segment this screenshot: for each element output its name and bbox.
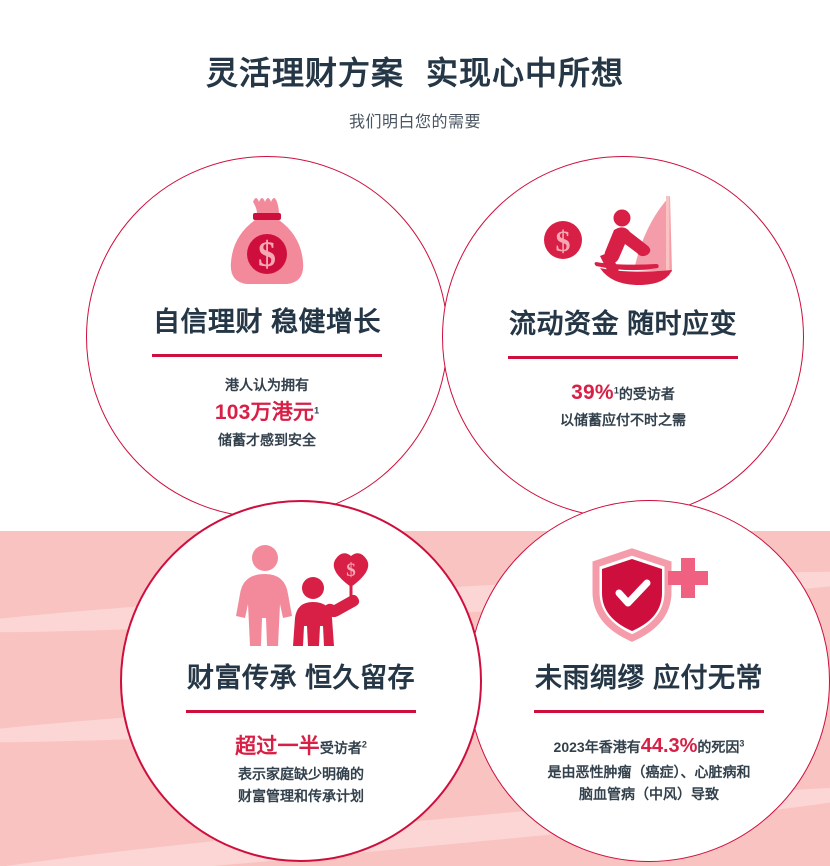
footnote-marker: 3 bbox=[739, 739, 744, 749]
card-plan-ahead: 未雨绸缪 应付无常 2023年香港有44.3%的死因3 是由恶性肿瘤（癌症）、心… bbox=[468, 500, 830, 806]
card-line-suffix: 的死因 bbox=[697, 739, 739, 755]
page-title: 灵活理财方案实现心中所想 bbox=[0, 0, 830, 94]
infographic-stage: 灵活理财方案实现心中所想 我们明白您的需要 $ 自信理财 稳健增长 港人认为拥有… bbox=[0, 0, 830, 866]
card-highlight-value: 44.3% bbox=[641, 735, 698, 757]
card-wealth-legacy: $ 财富传承 恒久留存 超过一半受访者2 表示家庭缺少明确的 财富管理和传承计划 bbox=[120, 500, 482, 807]
page-subtitle: 我们明白您的需要 bbox=[0, 108, 830, 132]
family-heart-balloon-icon: $ bbox=[120, 530, 482, 648]
card-body-line-2: 是由恶性肿瘤（癌症）、心脏病和 bbox=[468, 762, 830, 784]
card-body-line-1: 港人认为拥有 bbox=[86, 375, 448, 397]
card-body-line-1: 2023年香港有44.3%的死因3 bbox=[468, 731, 830, 762]
card-body-line-3: 脑血管病（中风）导致 bbox=[468, 784, 830, 806]
card-body: 2023年香港有44.3%的死因3 是由恶性肿瘤（癌症）、心脏病和 脑血管病（中… bbox=[468, 731, 830, 805]
page-title-part2: 实现心中所想 bbox=[426, 55, 624, 91]
svg-text:$: $ bbox=[258, 234, 276, 274]
card-body: 39%1的受访者 以储蓄应付不时之需 bbox=[442, 377, 804, 431]
card-highlight-tail: 受访者 bbox=[320, 740, 362, 756]
page-title-part1: 灵活理财方案 bbox=[206, 55, 404, 91]
card-divider bbox=[534, 710, 764, 713]
card-title: 自信理财 稳健增长 bbox=[86, 306, 448, 338]
card-body: 港人认为拥有 103万港元1 储蓄才感到安全 bbox=[86, 375, 448, 451]
card-title: 财富传承 恒久留存 bbox=[120, 662, 482, 694]
card-title: 未雨绸缪 应付无常 bbox=[468, 662, 830, 694]
card-confident-wealth: $ 自信理财 稳健增长 港人认为拥有 103万港元1 储蓄才感到安全 bbox=[86, 156, 448, 451]
card-body-line-3: 储蓄才感到安全 bbox=[86, 430, 448, 452]
card-highlight-value: 超过一半 bbox=[235, 735, 320, 758]
card-body-highlight-line: 103万港元1 bbox=[86, 397, 448, 430]
page-header: 灵活理财方案实现心中所想 我们明白您的需要 bbox=[0, 0, 830, 132]
card-divider bbox=[508, 356, 738, 359]
card-body-line-2: 以储蓄应付不时之需 bbox=[442, 410, 804, 432]
card-line-prefix: 2023年香港有 bbox=[554, 739, 641, 755]
svg-text:$: $ bbox=[556, 225, 571, 258]
card-liquid-funds: $ 流动资金 随时应变 39%1的受访者 以储蓄应付不时之需 bbox=[442, 156, 804, 432]
card-highlight-tail: 的受访者 bbox=[619, 386, 675, 402]
card-title: 流动资金 随时应变 bbox=[442, 308, 804, 340]
card-body: 超过一半受访者2 表示家庭缺少明确的 财富管理和传承计划 bbox=[120, 731, 482, 807]
card-highlight-value: 103万港元 bbox=[215, 401, 314, 424]
footnote-marker: 2 bbox=[362, 740, 367, 750]
money-bag-icon: $ bbox=[86, 174, 448, 292]
card-body-highlight-line: 超过一半受访者2 bbox=[120, 731, 482, 764]
card-highlight-value: 39% bbox=[571, 381, 614, 404]
windsurfer-icon: $ bbox=[442, 176, 804, 294]
shield-check-icon bbox=[468, 530, 830, 648]
card-body-line-2: 表示家庭缺少明确的 bbox=[120, 764, 482, 786]
card-divider bbox=[152, 354, 382, 357]
card-body-highlight-line: 39%1的受访者 bbox=[442, 377, 804, 410]
footnote-marker: 1 bbox=[314, 405, 319, 415]
svg-text:$: $ bbox=[346, 560, 356, 581]
card-body-line-3: 财富管理和传承计划 bbox=[120, 786, 482, 808]
card-divider bbox=[186, 710, 416, 713]
